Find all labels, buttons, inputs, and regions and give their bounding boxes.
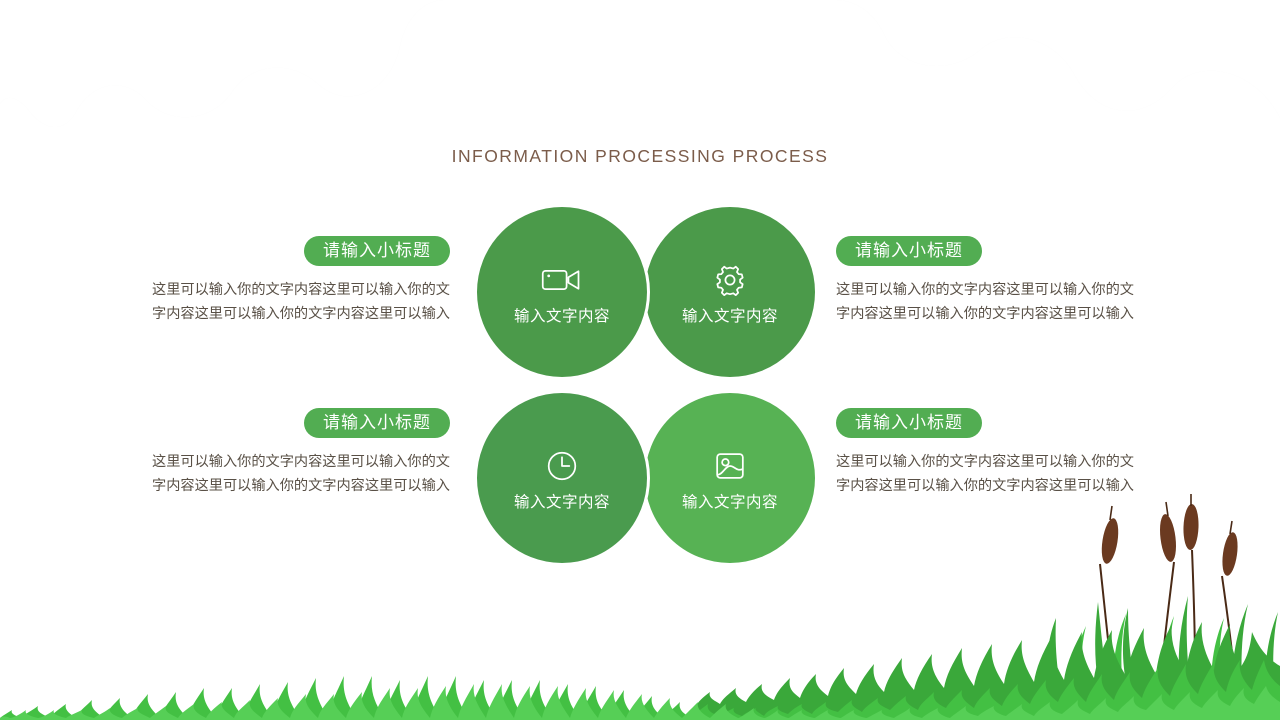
subtitle-pill[interactable]: 请输入小标题	[836, 408, 982, 438]
process-circle-cluster: 输入文字内容 输入文字内容 输入文字内容 输入文字内容	[466, 200, 826, 575]
subtitle-pill[interactable]: 请输入小标题	[304, 408, 450, 438]
body-text: 这里可以输入你的文字内容这里可以输入你的文字内容这里可以输入你的文字内容这里可以…	[836, 450, 1146, 499]
body-text: 这里可以输入你的文字内容这里可以输入你的文字内容这里可以输入你的文字内容这里可以…	[836, 278, 1146, 327]
body-text: 这里可以输入你的文字内容这里可以输入你的文字内容这里可以输入你的文字内容这里可以…	[140, 450, 450, 499]
slide-canvas: INFORMATION PROCESSING PROCESS 输入文字内容 输入…	[0, 0, 1280, 720]
text-block-top-right: 请输入小标题 这里可以输入你的文字内容这里可以输入你的文字内容这里可以输入你的文…	[836, 236, 1146, 327]
text-block-top-left: 请输入小标题 这里可以输入你的文字内容这里可以输入你的文字内容这里可以输入你的文…	[140, 236, 450, 327]
page-title: INFORMATION PROCESSING PROCESS	[0, 146, 1280, 167]
grass-tall-blades	[1047, 596, 1278, 718]
subtitle-pill[interactable]: 请输入小标题	[304, 236, 450, 266]
process-circle-top-right[interactable]: 输入文字内容	[642, 204, 818, 380]
clock-icon	[540, 446, 584, 486]
process-circle-label: 输入文字内容	[682, 495, 778, 511]
process-circle-bottom-right[interactable]: 输入文字内容	[642, 390, 818, 566]
grass-tall-blades-light	[1072, 614, 1224, 718]
video-camera-icon	[540, 260, 584, 300]
cattail-group	[1099, 494, 1240, 718]
image-icon	[708, 446, 752, 486]
grass-band-back	[696, 622, 1280, 720]
text-block-bottom-left: 请输入小标题 这里可以输入你的文字内容这里可以输入你的文字内容这里可以输入你的文…	[140, 408, 450, 499]
grass-band-mid	[0, 660, 1280, 720]
grass-band-front	[0, 684, 1280, 720]
body-text: 这里可以输入你的文字内容这里可以输入你的文字内容这里可以输入你的文字内容这里可以…	[140, 278, 450, 327]
process-circle-label: 输入文字内容	[682, 309, 778, 325]
process-circle-label: 输入文字内容	[514, 309, 610, 325]
gear-icon	[708, 260, 752, 300]
process-circle-bottom-left[interactable]: 输入文字内容	[474, 390, 650, 566]
process-circle-label: 输入文字内容	[514, 495, 610, 511]
subtitle-pill[interactable]: 请输入小标题	[836, 236, 982, 266]
text-block-bottom-right: 请输入小标题 这里可以输入你的文字内容这里可以输入你的文字内容这里可以输入你的文…	[836, 408, 1146, 499]
process-circle-top-left[interactable]: 输入文字内容	[474, 204, 650, 380]
